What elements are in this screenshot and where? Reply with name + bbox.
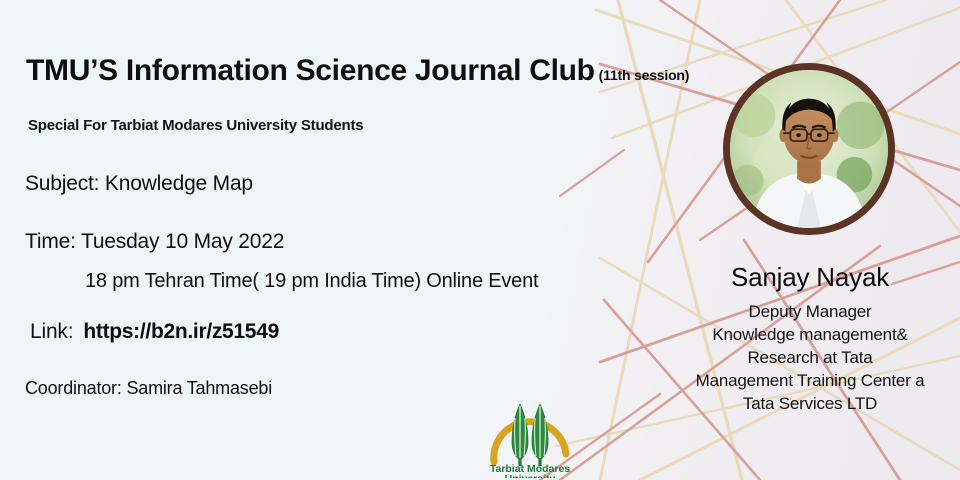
speaker-role-line: Knowledge management& bbox=[640, 323, 960, 346]
speaker-portrait-image bbox=[730, 70, 888, 228]
wheat-sheaf-arc-icon: Tarbiat Modares University bbox=[480, 396, 580, 478]
speaker-name: Sanjay Nayak bbox=[650, 262, 960, 293]
event-poster: TMU’S Information Science Journal Club(1… bbox=[0, 0, 960, 480]
speaker-role-line: Deputy Manager bbox=[640, 300, 960, 323]
speaker-photo bbox=[723, 63, 895, 235]
event-link-row: Link: https://b2n.ir/z51549 bbox=[30, 320, 279, 344]
speaker-role-line: Tata Services LTD bbox=[640, 392, 960, 415]
event-link[interactable]: https://b2n.ir/z51549 bbox=[83, 320, 279, 344]
speaker-role-line: Research at Tata bbox=[640, 346, 960, 369]
subject-text: Subject: Knowledge Map bbox=[25, 172, 253, 196]
title-session-text: (11th session) bbox=[599, 67, 690, 83]
title-main-text: TMU’S Information Science Journal Club bbox=[26, 54, 595, 87]
coordinator-text: Coordinator: Samira Tahmasebi bbox=[25, 378, 272, 399]
special-note: Special For Tarbiat Modares University S… bbox=[28, 117, 363, 134]
link-label: Link: bbox=[30, 320, 73, 344]
time-date-text: Time: Tuesday 10 May 2022 bbox=[25, 230, 284, 254]
university-logo: Tarbiat Modares University bbox=[480, 396, 580, 478]
logo-line2: University bbox=[505, 473, 556, 478]
time-detail-text: 18 pm Tehran Time( 19 pm India Time) Onl… bbox=[85, 270, 538, 293]
speaker-role: Deputy Manager Knowledge management& Res… bbox=[640, 300, 960, 415]
page-title: TMU’S Information Science Journal Club(1… bbox=[26, 54, 689, 88]
speaker-role-line: Management Training Center a bbox=[640, 369, 960, 392]
